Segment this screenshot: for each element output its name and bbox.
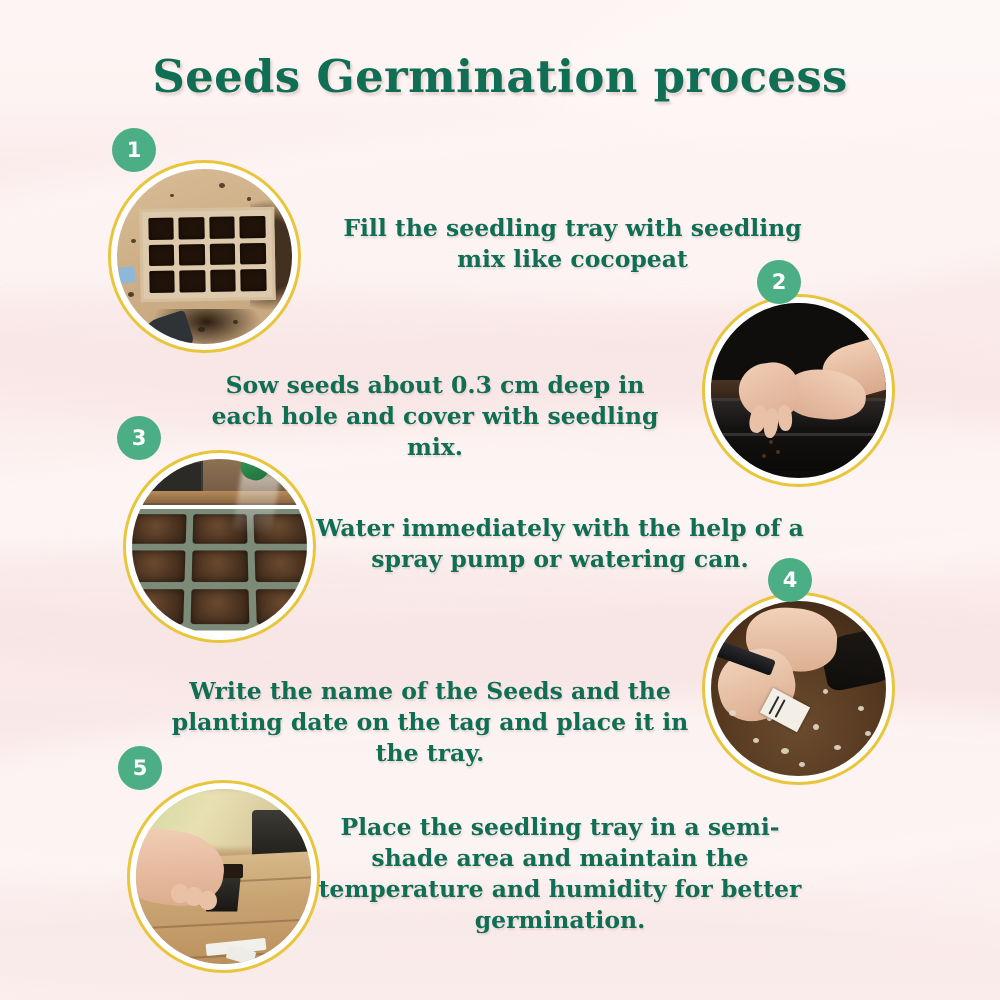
sowing-seeds-photo <box>711 303 886 478</box>
step-image-3 <box>123 450 316 643</box>
step-caption-5: Place the seedling tray in a semi-shade … <box>305 812 815 936</box>
tray-grid <box>132 508 307 629</box>
step-badge-5: 5 <box>118 746 162 790</box>
step-image-5 <box>127 780 320 973</box>
seedling-tray-photo <box>117 169 292 344</box>
step-badge-4: 4 <box>768 558 812 602</box>
infographic-poster: Seeds Germination process 1 <box>0 0 1000 1000</box>
page-title: Seeds Germination process <box>0 50 1000 103</box>
watering-tray-photo <box>132 459 307 634</box>
step-caption-1: Fill the seedling tray with seedling mix… <box>325 213 820 275</box>
step-badge-1: 1 <box>112 128 156 172</box>
step-caption-3: Water immediately with the help of a spr… <box>295 513 825 575</box>
writing-tag-photo <box>711 601 886 776</box>
step-image-1 <box>108 160 301 353</box>
step-badge-3: 3 <box>117 416 161 460</box>
step-image-2 <box>702 294 895 487</box>
step-caption-4: Write the name of the Seeds and the plan… <box>155 676 705 769</box>
step-badge-2: 2 <box>757 260 801 304</box>
tray-grid <box>139 206 275 301</box>
placing-pot-photo <box>136 789 311 964</box>
step-caption-2: Sow seeds about 0.3 cm deep in each hole… <box>200 370 670 463</box>
step-image-4 <box>702 592 895 785</box>
